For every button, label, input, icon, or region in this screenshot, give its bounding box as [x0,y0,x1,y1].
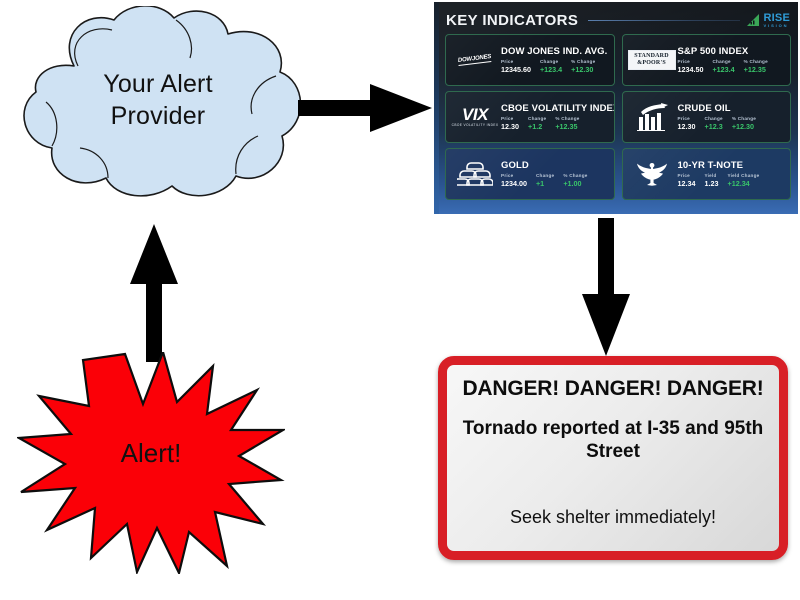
stat-value: 1234.00 [501,179,527,188]
dashboard-left-edge [434,2,439,214]
stat-value: +12.3 [705,122,723,131]
stat-value: 12.30 [501,122,519,131]
stat-label: % Change [555,116,579,121]
stat-label: Price [501,59,531,64]
indicator-card-t-note[interactable]: 10-YR T-NOTE Price 12.34 Yield 1.23 Yiel… [622,148,792,200]
stat-price: Price 1234.50 [678,59,704,74]
diagram-canvas: Your Alert Provider KEY INDICATORS RISE [0,0,800,600]
stat-value: +123.4 [540,65,562,74]
stat-value: 12345.60 [501,65,531,74]
stat-value: +1.2 [528,122,546,131]
stat-change: Change +1.2 [528,116,546,131]
card-title: CBOE VOLATILITY INDEX [501,103,610,114]
stat-label: Price [501,116,519,121]
gold-bars-glyph [457,161,493,187]
stat-value: 12.30 [678,122,696,131]
stat-value: +1 [536,179,554,188]
stat-value: +12.35 [555,122,579,131]
card-body: GOLD Price 1234.00 Change +1 % Change +1 [499,160,610,188]
card-title: S&P 500 INDEX [678,46,787,57]
stat-label: Yield [705,173,719,178]
stat-pct-change: % Change +12.35 [555,116,579,131]
card-stats: Price 12345.60 Change +123.4 % Change +1… [501,59,610,74]
stat-pct-change: % Change +12.30 [571,59,595,74]
stat-value: +12.35 [744,65,768,74]
dashboard-title: KEY INDICATORS [446,12,578,29]
arrow-cloud-to-dashboard [296,80,436,136]
alert-burst-node: Alert! [17,352,285,574]
stat-change: Change +123.4 [540,59,562,74]
card-body: S&P 500 INDEX Price 1234.50 Change +123.… [676,46,787,74]
stat-label: Price [501,173,527,178]
dashboard-header: KEY INDICATORS RISE VISION [446,8,790,32]
indicator-card-vix[interactable]: VIX CBOE VOLATILITY INDEX CBOE VOLATILIT… [445,91,615,143]
stat-value: +12.34 [728,179,760,188]
indicator-card-gold[interactable]: GOLD Price 1234.00 Change +1 % Change +1 [445,148,615,200]
stat-value: 12.34 [678,179,696,188]
danger-message: Tornado reported at I-35 and 95th Street [461,417,765,463]
stat-value: 1234.50 [678,65,704,74]
danger-action: Seek shelter immediately! [461,507,765,528]
stat-change: Change +123.4 [712,59,734,74]
stat-label: % Change [744,59,768,64]
stat-label: Yield Change [728,173,760,178]
stat-yield-change: Yield Change +12.34 [728,173,760,188]
stat-label: Change [528,116,546,121]
stat-price: Price 12.30 [501,116,519,131]
stat-pct-change: % Change +1.00 [563,173,587,188]
alert-burst-label: Alert! [17,438,285,469]
card-stats: Price 12.34 Yield 1.23 Yield Change +12.… [678,173,787,188]
rise-triangle-icon [746,13,761,27]
stat-price: Price 12.34 [678,173,696,188]
stat-price: Price 12.30 [678,116,696,131]
cloud-node: Your Alert Provider [8,6,308,202]
key-indicators-dashboard: KEY INDICATORS RISE VISION DOWJONES [434,2,798,214]
stat-pct-change: % Change +12.35 [744,59,768,74]
card-title: GOLD [501,160,610,171]
stat-price: Price 1234.00 [501,173,527,188]
danger-title: DANGER! DANGER! DANGER! [461,377,765,401]
indicator-card-crude-oil[interactable]: CRUDE OIL Price 12.30 Change +12.3 % Cha… [622,91,792,143]
indicator-card-sp500[interactable]: STANDARD &POOR'S S&P 500 INDEX Price 123… [622,34,792,86]
stat-label: Price [678,173,696,178]
rise-vision-wordmark: RISE VISION [764,13,790,28]
card-stats: Price 12.30 Change +12.3 % Change +12.30 [678,116,787,131]
stat-label: % Change [563,173,587,178]
danger-alert-box: DANGER! DANGER! DANGER! Tornado reported… [438,356,788,560]
card-stats: Price 1234.50 Change +123.4 % Change +12… [678,59,787,74]
eagle-glyph [634,159,670,189]
stat-value: +123.4 [712,65,734,74]
stat-label: Price [678,59,704,64]
card-stats: Price 12.30 Change +1.2 % Change +12.35 [501,116,610,131]
treasury-eagle-icon [628,154,676,194]
card-body: CBOE VOLATILITY INDEX Price 12.30 Change… [499,103,610,131]
card-stats: Price 1234.00 Change +1 % Change +1.00 [501,173,610,188]
dow-jones-wordmark: DOWJONES [458,54,492,66]
cloud-label: Your Alert Provider [8,68,308,132]
stat-change: Change +12.3 [705,116,723,131]
stat-value: 1.23 [705,179,719,188]
stat-value: +12.30 [571,65,595,74]
refinery-glyph [635,103,669,131]
card-title: DOW JONES IND. AVG. [501,46,610,57]
stat-yield: Yield 1.23 [705,173,719,188]
vix-mark: VIX [462,106,488,123]
arrow-alert-to-cloud [126,222,182,364]
card-title: CRUDE OIL [678,103,787,114]
stat-label: Change [540,59,562,64]
gold-bars-icon [451,154,499,194]
stat-pct-change: % Change +12.30 [732,116,756,131]
stat-label: % Change [571,59,595,64]
oil-refinery-icon [628,97,676,137]
stat-label: % Change [732,116,756,121]
indicator-card-dow-jones[interactable]: DOWJONES DOW JONES IND. AVG. Price 12345… [445,34,615,86]
header-divider [588,20,739,21]
brand-sub: VISION [764,24,790,28]
stat-change: Change +1 [536,173,554,188]
vix-logo-icon: VIX CBOE VOLATILITY INDEX [451,97,499,137]
vix-submark: CBOE VOLATILITY INDEX [452,124,499,127]
vix-wordmark: VIX CBOE VOLATILITY INDEX [452,106,499,127]
card-body: CRUDE OIL Price 12.30 Change +12.3 % Cha… [676,103,787,131]
indicator-card-grid: DOWJONES DOW JONES IND. AVG. Price 12345… [445,34,791,200]
stat-label: Change [536,173,554,178]
dow-jones-logo-icon: DOWJONES [451,40,499,80]
card-body: 10-YR T-NOTE Price 12.34 Yield 1.23 Yiel… [676,160,787,188]
card-title: 10-YR T-NOTE [678,160,787,171]
rise-vision-logo: RISE VISION [746,13,790,28]
stat-label: Change [705,116,723,121]
stat-value: +1.00 [563,179,587,188]
brand-name: RISE [764,13,790,24]
stat-label: Price [678,116,696,121]
sp-wordmark: STANDARD &POOR'S [628,50,676,70]
standard-and-poors-logo-icon: STANDARD &POOR'S [628,40,676,80]
stat-label: Change [712,59,734,64]
card-body: DOW JONES IND. AVG. Price 12345.60 Chang… [499,46,610,74]
stat-value: +12.30 [732,122,756,131]
stat-price: Price 12345.60 [501,59,531,74]
arrow-dashboard-to-danger [578,218,634,358]
